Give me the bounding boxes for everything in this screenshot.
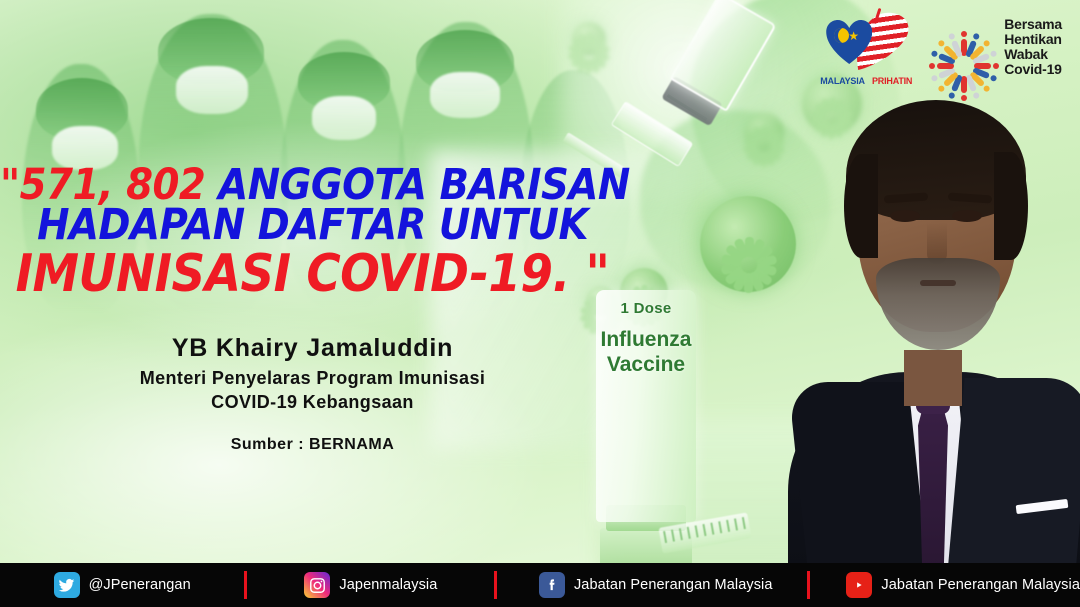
- speaker-name: YB Khairy Jamaluddin: [0, 334, 625, 363]
- youtube-icon[interactable]: [846, 572, 872, 598]
- twitter-icon[interactable]: [54, 572, 80, 598]
- people-circle-icon: [934, 17, 994, 77]
- speaker-role-line1: Menteri Penyelaras Program Imunisasi: [0, 366, 625, 390]
- footer-divider: [244, 571, 247, 599]
- hair-side-right: [994, 152, 1028, 260]
- bersama-hentikan-wabak-logo: Bersama Hentikan Wabak Covid-19: [934, 17, 1062, 77]
- source-text: Sumber : BERNAMA: [0, 436, 625, 454]
- prihatin-wordmark: MALAYSIA PRIHATIN: [820, 76, 912, 86]
- bersama-wordmark: Bersama Hentikan Wabak Covid-19: [1004, 17, 1062, 77]
- social-item-instagram[interactable]: Japenmalaysia: [304, 572, 437, 598]
- facebook-icon[interactable]: [539, 572, 565, 598]
- bersama-line1: Bersama: [1004, 17, 1062, 32]
- bersama-line2: Hentikan: [1004, 32, 1062, 47]
- headline-quote: "571, 802 ANGGOTA BARISAN HADAPAN DAFTAR…: [0, 165, 625, 299]
- bersama-line4: Covid-19: [1004, 62, 1062, 77]
- speaker-role-line2: COVID-19 Kebangsaan: [0, 390, 625, 414]
- instagram-icon[interactable]: [304, 572, 330, 598]
- footer-divider: [807, 571, 810, 599]
- social-item-youtube[interactable]: Jabatan Penerangan Malaysia: [846, 572, 1080, 598]
- virus-particle: [572, 22, 606, 56]
- hair-side-left: [844, 154, 878, 258]
- mouth-shape: [920, 280, 956, 286]
- face-mask-shape: [176, 66, 248, 114]
- suit-lapel-left: [788, 382, 928, 572]
- prihatin-word-left: MALAYSIA: [820, 76, 865, 86]
- headline-line3: IMUNISASI COVID-19. ": [0, 250, 625, 299]
- attribution-block: YB Khairy Jamaluddin Menteri Penyelaras …: [0, 334, 625, 454]
- twitter-handle: @JPenerangan: [89, 577, 191, 593]
- suit-lapel-right: [947, 378, 1080, 573]
- instagram-handle: Japenmalaysia: [339, 577, 437, 593]
- social-item-twitter[interactable]: @JPenerangan: [54, 572, 191, 598]
- headline-line2: HADAPAN DAFTAR UNTUK: [0, 205, 625, 245]
- social-item-facebook[interactable]: Jabatan Penerangan Malaysia: [539, 572, 773, 598]
- neck-shape: [904, 350, 962, 406]
- poster: 1 Dose Influenza Vaccine: [0, 0, 1080, 607]
- footer-divider: [494, 571, 497, 599]
- virus-particle: [744, 112, 784, 152]
- social-media-bar: @JPenerangan Japenmalaysia Jabatan Pener…: [0, 563, 1080, 607]
- eye-left: [890, 210, 920, 222]
- eye-right: [952, 210, 982, 222]
- youtube-channel-name: Jabatan Penerangan Malaysia: [881, 577, 1080, 593]
- face-mask-shape: [430, 72, 500, 118]
- beard-shape: [876, 258, 1000, 350]
- minister-portrait: [780, 82, 1080, 563]
- necktie: [918, 394, 948, 569]
- logo-group: ★ MALAYSIA PRIHATIN Bersama Hentikan Wab…: [820, 8, 1062, 86]
- star-icon: ★: [848, 30, 859, 42]
- malaysia-prihatin-logo: ★ MALAYSIA PRIHATIN: [820, 8, 912, 86]
- prihatin-word-right: PRIHATIN: [872, 76, 912, 86]
- facebook-page-name: Jabatan Penerangan Malaysia: [574, 577, 773, 593]
- bottle-dose-text: 1 Dose: [596, 300, 696, 317]
- bersama-line3: Wabak: [1004, 47, 1062, 62]
